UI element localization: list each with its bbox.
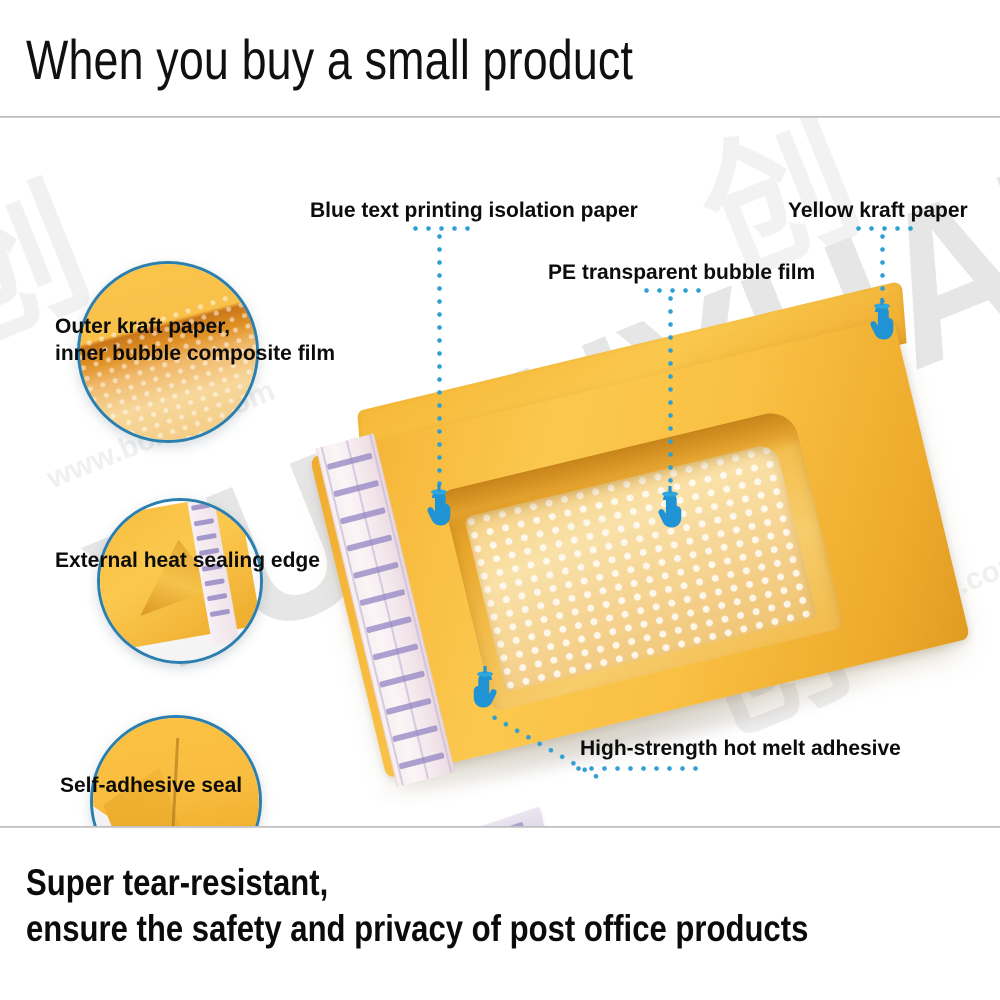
pointer-hand-icon-isolation-paper xyxy=(422,484,456,530)
footer-divider xyxy=(0,826,1000,828)
leader-v-kraft-paper xyxy=(880,230,885,302)
magnifier-heat-seal xyxy=(97,498,263,664)
footer-block: Super tear-resistant, ensure the safety … xyxy=(26,860,986,952)
leader-v-bubble-film xyxy=(668,292,673,490)
footer-line-2: ensure the safety and privacy of post of… xyxy=(26,906,832,952)
callout-label-kraft-paper: Yellow kraft paper xyxy=(788,198,968,223)
pointer-hand-icon-hot-melt xyxy=(468,666,502,712)
magnifier-self-seal xyxy=(90,715,262,826)
callout-label-isolation-paper: Blue text printing isolation paper xyxy=(310,198,638,223)
footer-line-1: Super tear-resistant, xyxy=(26,860,832,906)
magnifier-label-self-seal: Self-adhesive seal xyxy=(60,772,242,799)
magnifier-label-outer-kraft-line2: inner bubble composite film xyxy=(55,340,335,367)
leader-h-hot-melt xyxy=(572,766,702,771)
page-title: When you buy a small product xyxy=(26,26,778,98)
callout-label-bubble-film: PE transparent bubble film xyxy=(548,260,815,285)
leader-v-isolation-paper xyxy=(437,230,442,488)
callout-label-hot-melt: High-strength hot melt adhesive xyxy=(580,736,901,761)
pointer-hand-icon-kraft-paper xyxy=(865,298,899,344)
infographic-page: When you buy a small product 创 创 创 YUXIN… xyxy=(0,0,1000,1000)
magnifier-label-heat-seal: External heat sealing edge xyxy=(55,547,320,574)
magnifier-label-outer-kraft-line1: Outer kraft paper, xyxy=(55,313,230,340)
pointer-hand-icon-bubble-film xyxy=(653,486,687,532)
product-photo-stage: 创 创 创 YUXINYUAN www.bcmall.com www.bcmal… xyxy=(0,118,1000,826)
envelope xyxy=(310,318,970,779)
